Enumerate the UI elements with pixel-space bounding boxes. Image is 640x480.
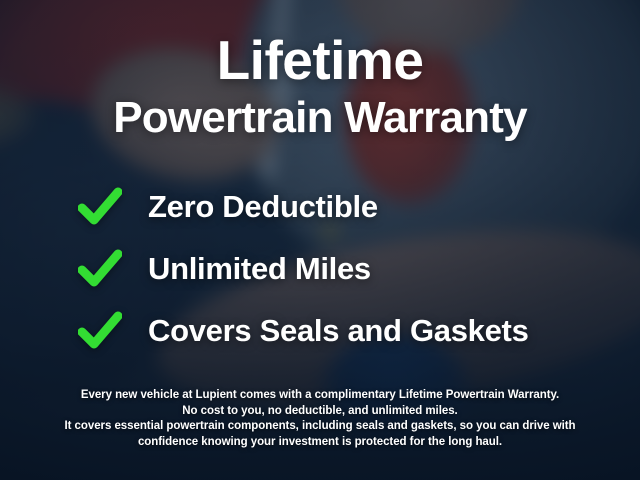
- fineprint-line-1: Every new vehicle at Lupient comes with …: [26, 388, 614, 404]
- headline-line-1: Lifetime: [217, 33, 424, 88]
- fineprint-block: Every new vehicle at Lupient comes with …: [0, 388, 640, 450]
- feature-row-covers-seals-and-gaskets: Covers Seals and Gaskets: [78, 300, 640, 362]
- feature-row-zero-deductible: Zero Deductible: [78, 176, 640, 238]
- feature-label-unlimited-miles: Unlimited Miles: [148, 251, 371, 287]
- feature-row-unlimited-miles: Unlimited Miles: [78, 238, 640, 300]
- feature-list: Zero Deductible Unlimited Miles Covers S…: [0, 176, 640, 362]
- lifetime-powertrain-warranty-banner: Lifetime Powertrain Warranty Zero Deduct…: [0, 0, 640, 480]
- headline-line-2: Powertrain Warranty: [113, 96, 527, 140]
- check-icon: [78, 311, 122, 351]
- fineprint-line-2: No cost to you, no deductible, and unlim…: [26, 404, 614, 420]
- banner-content: Lifetime Powertrain Warranty Zero Deduct…: [0, 0, 640, 480]
- feature-label-zero-deductible: Zero Deductible: [148, 189, 378, 225]
- check-icon: [78, 187, 122, 227]
- fineprint-line-4: confidence knowing your investment is pr…: [26, 435, 614, 451]
- check-icon: [78, 249, 122, 289]
- feature-label-covers-seals-and-gaskets: Covers Seals and Gaskets: [148, 313, 529, 349]
- fineprint-line-3: It covers essential powertrain component…: [26, 419, 614, 435]
